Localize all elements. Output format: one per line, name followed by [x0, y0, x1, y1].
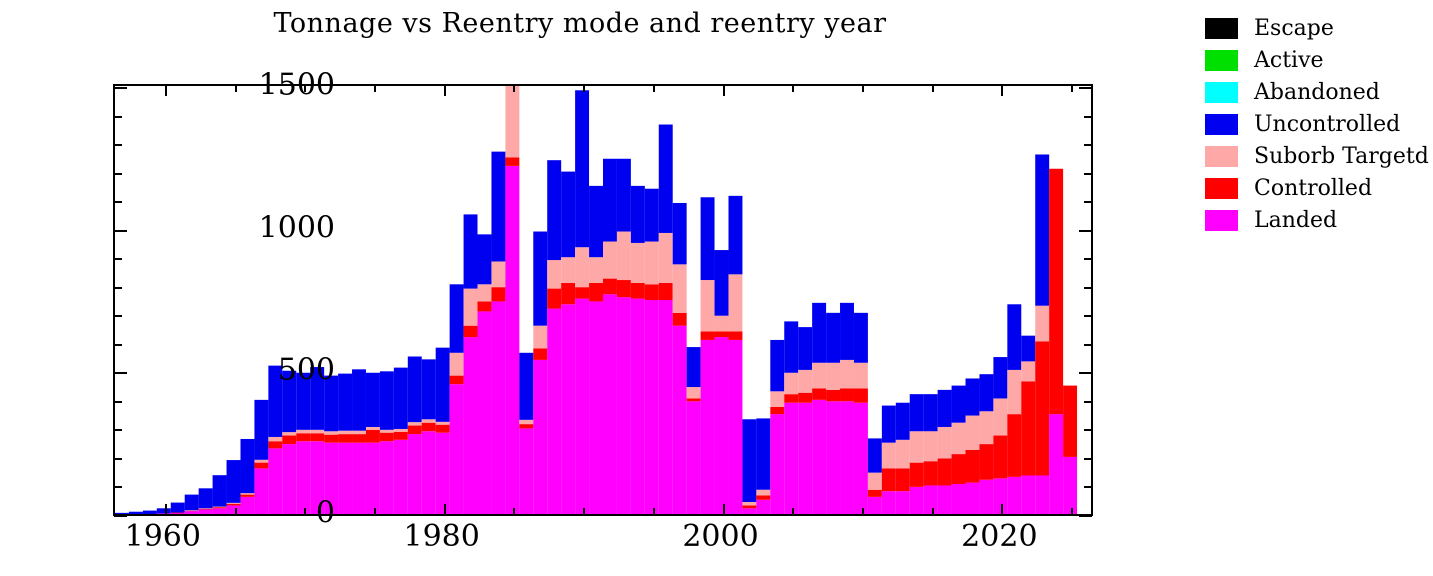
bar-segment — [742, 502, 756, 505]
bar-segment — [756, 500, 770, 514]
x-axis-tick-major — [1001, 504, 1003, 515]
y-axis-tick-major — [114, 87, 127, 89]
bar-segment — [715, 250, 729, 316]
bar-segment — [659, 233, 673, 283]
legend-swatch-controlled — [1205, 178, 1238, 199]
x-axis-tick-minor — [862, 85, 864, 92]
bar-segment — [966, 450, 980, 483]
y-axis-tick-label: 500 — [135, 353, 335, 388]
bar-segment — [728, 340, 742, 514]
bar-segment — [770, 414, 784, 514]
bar-segment — [952, 454, 966, 484]
legend-swatch-suborb-targetd — [1205, 146, 1238, 167]
bar-segment — [924, 461, 938, 485]
bar-segment — [533, 232, 547, 326]
bar-segment — [938, 485, 952, 514]
bar-segment — [645, 242, 659, 285]
bar-segment — [770, 391, 784, 407]
bar-segment — [701, 340, 715, 514]
bar-segment — [296, 433, 310, 441]
bar-segment — [408, 426, 422, 435]
bar-segment — [436, 433, 450, 514]
bar-segment — [742, 508, 756, 514]
bar-segment — [701, 197, 715, 280]
bar-segment — [910, 394, 924, 431]
bar-segment — [1021, 381, 1035, 475]
legend-item: Escape — [1205, 12, 1433, 44]
bar-segment — [798, 327, 812, 370]
bar-segment — [770, 407, 784, 414]
bar-segment — [464, 214, 478, 288]
x-axis-tick-label: 1960 — [125, 519, 201, 554]
bar-segment — [436, 425, 450, 433]
bar-segment — [645, 300, 659, 514]
bar-segment — [1035, 341, 1049, 475]
x-axis-tick-minor — [932, 85, 934, 92]
bar-segment — [882, 491, 896, 514]
bar-segment — [966, 483, 980, 514]
bar-segment — [910, 463, 924, 487]
x-axis-tick-minor — [374, 508, 376, 515]
legend-item-label: Controlled — [1254, 176, 1372, 201]
bar-segment — [631, 186, 645, 243]
bar-segment — [575, 299, 589, 514]
bar-segment — [338, 434, 352, 443]
bar-segment — [659, 283, 673, 300]
bar-segment — [352, 443, 366, 514]
bar-segment — [840, 360, 854, 389]
bar-segment — [450, 376, 464, 385]
y-axis-tick-minor — [114, 429, 122, 431]
y-axis-tick-minor — [1084, 116, 1092, 118]
bar-segment — [966, 378, 980, 415]
bar-segment — [1035, 306, 1049, 342]
x-axis-tick-minor — [653, 508, 655, 515]
legend-item-label: Uncontrolled — [1254, 112, 1400, 137]
bar-segment — [854, 363, 868, 389]
bar-segment — [617, 232, 631, 281]
bar-segment — [715, 316, 729, 332]
bar-segment — [854, 388, 868, 402]
bar-segment — [338, 431, 352, 434]
bar-segment — [547, 289, 561, 309]
bar-segment — [519, 424, 533, 428]
bar-segment — [993, 436, 1007, 479]
y-axis-tick-minor — [114, 486, 122, 488]
x-axis-tick-major — [444, 504, 446, 515]
bar-segment — [952, 484, 966, 514]
bar-segment — [784, 403, 798, 514]
bar-segment — [394, 432, 408, 440]
y-axis-tick-minor — [1084, 144, 1092, 146]
bar-segment — [436, 348, 450, 422]
x-axis-tick-label: 1980 — [403, 519, 479, 554]
x-axis-tick-major — [444, 85, 446, 96]
y-axis-tick-minor — [114, 287, 122, 289]
bar-segment — [993, 478, 1007, 514]
bar-segment — [910, 431, 924, 462]
bar-segment — [854, 403, 868, 514]
bar-segment — [547, 309, 561, 514]
bar-segment — [478, 301, 492, 311]
bar-segment — [1021, 361, 1035, 381]
bar-segment — [491, 261, 505, 287]
bar-segment — [282, 432, 296, 435]
bar-segment — [240, 439, 254, 493]
bar-segment — [394, 440, 408, 514]
x-axis-tick-minor — [932, 508, 934, 515]
bar-segment — [924, 394, 938, 431]
bar-segment — [394, 368, 408, 429]
bar-segment — [380, 371, 394, 429]
bar-segment — [422, 359, 436, 419]
bar-segment — [673, 313, 687, 326]
bar-segment — [478, 311, 492, 514]
bar-segment — [366, 430, 380, 443]
x-axis-tick-minor — [513, 508, 515, 515]
bar-segment — [603, 159, 617, 242]
legend-swatch-active — [1205, 50, 1238, 71]
bar-segment — [366, 443, 380, 514]
bar-segment — [589, 283, 603, 302]
bar-segment — [1021, 475, 1035, 514]
bar-segment — [505, 157, 519, 166]
bar-segment — [533, 360, 547, 514]
bar-segment — [826, 313, 840, 363]
bar-segment — [617, 297, 631, 514]
bar-segment — [742, 505, 756, 508]
bar-segment — [966, 416, 980, 450]
bar-segment — [826, 363, 840, 390]
bar-segment — [1049, 169, 1063, 414]
bar-segment — [868, 438, 882, 472]
bar-segment — [268, 437, 282, 441]
y-axis-tick-major — [1079, 515, 1092, 517]
y-axis-tick-minor — [114, 344, 122, 346]
bar-segment — [868, 490, 882, 497]
x-axis-tick-minor — [513, 85, 515, 92]
bar-segment — [812, 388, 826, 399]
legend-item-label: Active — [1254, 48, 1324, 73]
bar-segment — [701, 280, 715, 331]
bar-segment — [896, 440, 910, 469]
bar-segment — [1063, 386, 1077, 457]
bar-segment — [979, 374, 993, 411]
bar-segment — [993, 398, 1007, 435]
bar-segment — [938, 390, 952, 427]
y-axis-tick-minor — [1084, 486, 1092, 488]
bar-segment — [1007, 414, 1021, 477]
bar-segment — [728, 331, 742, 340]
legend-swatch-uncontrolled — [1205, 114, 1238, 135]
bar-segment — [450, 384, 464, 514]
bar-segment — [296, 430, 310, 433]
bar-segment — [268, 441, 282, 448]
bar-segment — [505, 86, 519, 157]
y-axis-tick-minor — [1084, 258, 1092, 260]
bar-segment — [575, 247, 589, 287]
bar-segment — [910, 487, 924, 514]
x-axis-tick-minor — [583, 508, 585, 515]
chart-title: Tonnage vs Reentry mode and reentry year — [0, 8, 1160, 39]
bar-segment — [784, 321, 798, 372]
x-axis-tick-minor — [1071, 85, 1073, 92]
bar-segment — [464, 337, 478, 514]
legend-item-label: Escape — [1254, 16, 1334, 41]
x-axis-tick-major — [723, 85, 725, 96]
bar-segment — [715, 331, 729, 337]
bar-segment — [868, 473, 882, 490]
bar-segment — [491, 301, 505, 514]
bar-segment — [896, 403, 910, 440]
bar-segment — [728, 274, 742, 331]
bar-segment — [352, 431, 366, 434]
bar-segment — [673, 203, 687, 264]
bar-segment — [491, 152, 505, 262]
bar-segment — [324, 431, 338, 434]
bar-segment — [840, 303, 854, 360]
bar-segment — [338, 374, 352, 431]
legend-swatch-escape — [1205, 18, 1238, 39]
bar-segment — [631, 283, 645, 299]
bar-segment — [394, 429, 408, 432]
bar-segment — [840, 401, 854, 514]
bar-segment — [979, 411, 993, 444]
y-axis-tick-minor — [114, 116, 122, 118]
bar-segment — [408, 434, 422, 514]
bar-segment — [617, 280, 631, 297]
bar-segment — [742, 419, 756, 502]
bar-segment — [240, 493, 254, 494]
bar-segment — [380, 441, 394, 514]
bar-segment — [436, 422, 450, 425]
y-axis-tick-minor — [1084, 201, 1092, 203]
x-axis-tick-minor — [653, 85, 655, 92]
bar-segment — [673, 264, 687, 313]
y-axis-tick-major — [114, 230, 127, 232]
legend-item: Active — [1205, 44, 1433, 76]
y-axis-tick-minor — [1084, 344, 1092, 346]
bar-segment — [687, 401, 701, 514]
bar-segment — [533, 349, 547, 360]
x-axis-tick-minor — [1071, 508, 1073, 515]
legend-swatch-landed — [1205, 210, 1238, 231]
bar-segment — [254, 400, 268, 460]
bar-segment — [603, 294, 617, 514]
bar-segment — [464, 326, 478, 337]
bar-segment — [854, 313, 868, 363]
legend-item: Suborb Targetd — [1205, 140, 1433, 172]
bar-segment — [924, 485, 938, 514]
bar-segment — [505, 166, 519, 514]
bar-segment — [352, 434, 366, 443]
plot-frame — [113, 84, 1093, 516]
bar-segment — [631, 299, 645, 514]
bar-segment — [575, 90, 589, 247]
y-axis-tick-minor — [114, 315, 122, 317]
plot-area — [115, 86, 1091, 514]
y-axis-tick-minor — [1084, 458, 1092, 460]
bar-segment — [617, 159, 631, 232]
bar-segment — [589, 186, 603, 257]
chart-legend: EscapeActiveAbandonedUncontrolledSuborb … — [1205, 12, 1433, 236]
bar-segment — [519, 353, 533, 420]
bar-segment — [631, 243, 645, 283]
legend-item: Uncontrolled — [1205, 108, 1433, 140]
bar-segment — [798, 403, 812, 514]
bar-segment — [254, 460, 268, 463]
bar-segment — [715, 337, 729, 514]
x-axis-tick-label: 2000 — [682, 519, 758, 554]
y-axis-tick-major — [1079, 87, 1092, 89]
legend-item-label: Suborb Targetd — [1254, 144, 1429, 169]
y-axis-tick-minor — [114, 401, 122, 403]
bar-segment — [938, 458, 952, 485]
bar-segment — [784, 373, 798, 394]
y-axis-tick-minor — [1084, 173, 1092, 175]
bar-segment — [491, 287, 505, 301]
bar-segment — [673, 326, 687, 514]
bar-segment — [896, 468, 910, 491]
bar-segment — [603, 242, 617, 279]
x-axis-tick-minor — [583, 85, 585, 92]
bar-segment — [979, 480, 993, 514]
bar-segment — [366, 373, 380, 427]
y-axis-tick-major — [114, 515, 127, 517]
legend-item: Abandoned — [1205, 76, 1433, 108]
y-axis-tick-minor — [1084, 287, 1092, 289]
bar-segment — [338, 443, 352, 514]
bar-segment — [547, 160, 561, 260]
legend-item: Controlled — [1205, 172, 1433, 204]
bar-segment — [561, 283, 575, 304]
bar-segment — [812, 363, 826, 389]
bar-segment — [282, 436, 296, 445]
bar-segment — [882, 406, 896, 443]
legend-item-label: Abandoned — [1254, 80, 1380, 105]
y-axis-tick-minor — [1084, 429, 1092, 431]
bar-segment — [310, 430, 324, 433]
bar-segment — [380, 430, 394, 433]
bar-segment — [645, 284, 659, 300]
x-axis-tick-minor — [862, 508, 864, 515]
bar-segment — [826, 390, 840, 401]
bar-segment — [380, 433, 394, 442]
bar-segment — [812, 400, 826, 514]
bar-segment — [756, 490, 770, 496]
y-axis-tick-major — [1079, 230, 1092, 232]
bar-segment — [784, 394, 798, 403]
y-axis-tick-minor — [1084, 315, 1092, 317]
bar-segment — [422, 431, 436, 514]
y-axis-tick-minor — [114, 201, 122, 203]
bar-segment — [1021, 336, 1035, 362]
bar-segment — [310, 433, 324, 441]
bar-segment — [952, 386, 966, 423]
bar-segment — [1049, 414, 1063, 514]
bar-segment — [589, 257, 603, 283]
bar-segment — [603, 279, 617, 295]
legend-item: Landed — [1205, 204, 1433, 236]
bar-segment — [366, 427, 380, 430]
bar-segment — [896, 491, 910, 514]
bar-segment — [728, 196, 742, 274]
bar-segment — [924, 431, 938, 461]
bar-segment — [840, 388, 854, 401]
bar-segment — [450, 353, 464, 376]
legend-swatch-abandoned — [1205, 82, 1238, 103]
bar-segment — [756, 418, 770, 489]
y-axis-tick-minor — [114, 258, 122, 260]
y-axis-tick-label: 1500 — [135, 68, 335, 103]
bar-segment — [979, 444, 993, 480]
bar-segment — [687, 347, 701, 387]
y-axis-tick-label: 1000 — [135, 210, 335, 245]
bar-segment — [659, 125, 673, 233]
bar-segment — [798, 393, 812, 403]
bar-segment — [1007, 304, 1021, 370]
bar-segment — [352, 369, 366, 430]
bar-segment — [1063, 457, 1077, 514]
bar-segment — [756, 495, 770, 499]
bar-segment — [478, 284, 492, 301]
chart-page: Tonnage vs Reentry mode and reentry year… — [0, 0, 1433, 576]
bar-segment — [547, 260, 561, 289]
y-axis-tick-minor — [114, 144, 122, 146]
bar-segment — [798, 370, 812, 393]
bar-segment — [450, 284, 464, 352]
x-axis-tick-minor — [792, 508, 794, 515]
bar-segment — [882, 468, 896, 491]
legend-item-label: Landed — [1254, 208, 1337, 233]
bar-segment — [770, 340, 784, 391]
bar-segment — [1007, 370, 1021, 414]
x-axis-tick-minor — [374, 85, 376, 92]
bar-segment — [408, 422, 422, 425]
bar-segment — [687, 398, 701, 401]
bar-segment — [561, 257, 575, 283]
x-axis-tick-label: 2020 — [961, 519, 1037, 554]
bar-segment — [422, 423, 436, 432]
bar-segment — [464, 289, 478, 326]
bar-segment — [589, 301, 603, 514]
bar-segment — [519, 428, 533, 514]
bar-segment — [561, 172, 575, 258]
stacked-bars — [115, 86, 1091, 514]
bar-segment — [1007, 477, 1021, 514]
bar-segment — [993, 357, 1007, 398]
y-axis-tick-major — [1079, 372, 1092, 374]
bar-segment — [868, 497, 882, 514]
bar-segment — [938, 427, 952, 458]
bar-segment — [533, 326, 547, 349]
bar-segment — [254, 463, 268, 469]
bar-segment — [519, 420, 533, 424]
bar-segment — [659, 300, 673, 514]
bar-segment — [812, 303, 826, 363]
bar-segment — [561, 304, 575, 514]
x-axis-tick-major — [1001, 85, 1003, 96]
y-axis-tick-minor — [114, 173, 122, 175]
x-axis-tick-minor — [792, 85, 794, 92]
bar-segment — [952, 423, 966, 454]
bar-segment — [645, 189, 659, 242]
bar-segment — [1035, 475, 1049, 514]
bar-segment — [882, 443, 896, 469]
bar-segment — [478, 234, 492, 284]
bar-segment — [1035, 154, 1049, 305]
bar-segment — [701, 331, 715, 340]
